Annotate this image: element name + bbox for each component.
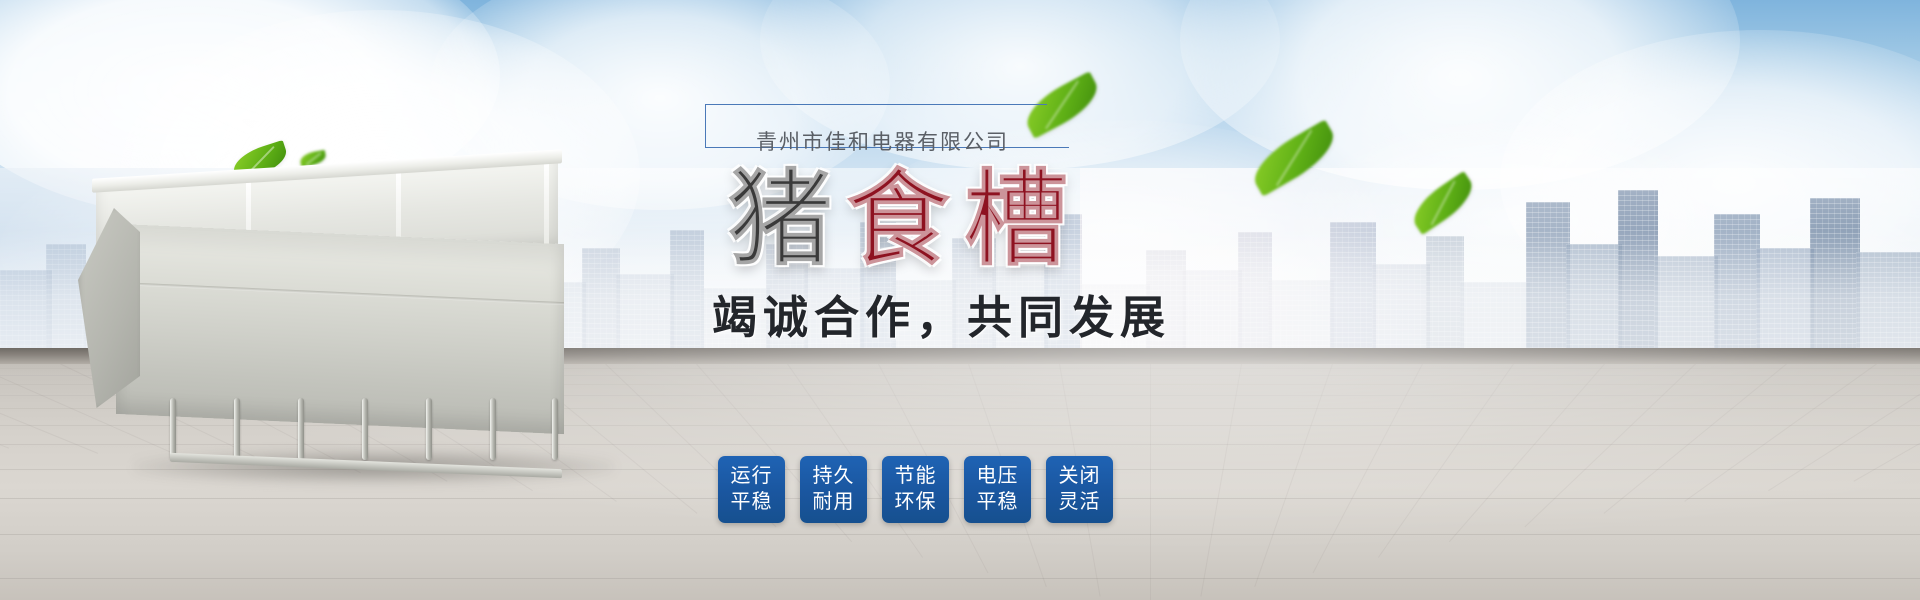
promo-banner: 青州市佳和电器有限公司 猪食槽 竭诚合作，共同发展 运行 平稳 持久 耐用 节能…: [0, 0, 1920, 600]
badge-line-1: 电压: [977, 464, 1019, 489]
badge-line-2: 平稳: [731, 490, 773, 515]
headline-char-2: 食: [846, 163, 964, 278]
banner-text-block: 青州市佳和电器有限公司 猪食槽 竭诚合作，共同发展: [700, 96, 1400, 346]
feature-badge[interactable]: 运行 平稳: [718, 456, 785, 523]
company-name: 青州市佳和电器有限公司: [756, 126, 1009, 156]
sub-headline: 竭诚合作，共同发展: [712, 281, 1400, 346]
badge-line-2: 平稳: [977, 490, 1019, 515]
feature-badge[interactable]: 关闭 灵活: [1046, 456, 1113, 523]
feature-badge[interactable]: 电压 平稳: [964, 456, 1031, 523]
badge-line-2: 耐用: [813, 490, 855, 515]
badge-line-2: 灵活: [1059, 490, 1101, 515]
headline-char-3: 槽: [964, 163, 1082, 278]
feature-badge[interactable]: 持久 耐用: [800, 456, 867, 523]
badge-line-1: 节能: [895, 464, 937, 489]
headline-title: 猪食槽: [728, 166, 1400, 275]
trough-divider-bars: [170, 398, 558, 464]
product-image-feeder-trough: [78, 150, 578, 470]
headline-char-1: 猪: [728, 163, 846, 278]
decorative-frame-dash: [1023, 147, 1069, 148]
feature-badge[interactable]: 节能 环保: [882, 456, 949, 523]
badge-line-1: 运行: [731, 464, 773, 489]
badge-line-2: 环保: [895, 490, 937, 515]
decorative-frame-top-tail: [1023, 104, 1047, 105]
company-name-row: 青州市佳和电器有限公司: [700, 96, 1400, 168]
badge-line-1: 持久: [813, 464, 855, 489]
feature-badge-list: 运行 平稳 持久 耐用 节能 环保 电压 平稳 关闭 灵活: [718, 456, 1113, 523]
badge-line-1: 关闭: [1059, 464, 1101, 489]
trough-side-panel: [78, 208, 140, 408]
